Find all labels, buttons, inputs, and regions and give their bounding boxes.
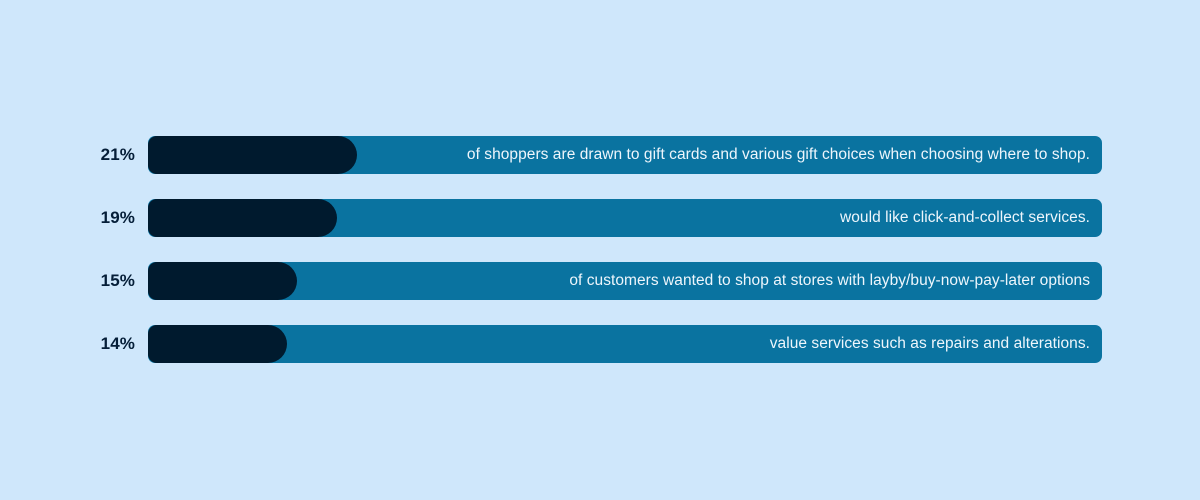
bar-caption: of shoppers are drawn to gift cards and … [467, 136, 1102, 174]
bar-caption: of customers wanted to shop at stores wi… [569, 262, 1102, 300]
bar-row: 19% would like click-and-collect service… [0, 199, 1200, 237]
bar-caption: value services such as repairs and alter… [770, 325, 1102, 363]
bar-value-label: 15% [0, 262, 135, 300]
bar-fill [148, 136, 357, 174]
bar-caption: would like click-and-collect services. [840, 199, 1102, 237]
bar-value-label: 21% [0, 136, 135, 174]
bar-row: 14% value services such as repairs and a… [0, 325, 1200, 363]
bar-track: of shoppers are drawn to gift cards and … [148, 136, 1102, 174]
bar-value-label: 19% [0, 199, 135, 237]
bar-fill [148, 199, 337, 237]
bar-track: would like click-and-collect services. [148, 199, 1102, 237]
bar-row: 15% of customers wanted to shop at store… [0, 262, 1200, 300]
retail-stats-bar-chart: 21% of shoppers are drawn to gift cards … [0, 0, 1200, 500]
bar-fill [148, 262, 297, 300]
bar-fill [148, 325, 287, 363]
bar-track: value services such as repairs and alter… [148, 325, 1102, 363]
bar-value-label: 14% [0, 325, 135, 363]
bar-rows: 21% of shoppers are drawn to gift cards … [0, 136, 1200, 388]
bar-track: of customers wanted to shop at stores wi… [148, 262, 1102, 300]
bar-row: 21% of shoppers are drawn to gift cards … [0, 136, 1200, 174]
